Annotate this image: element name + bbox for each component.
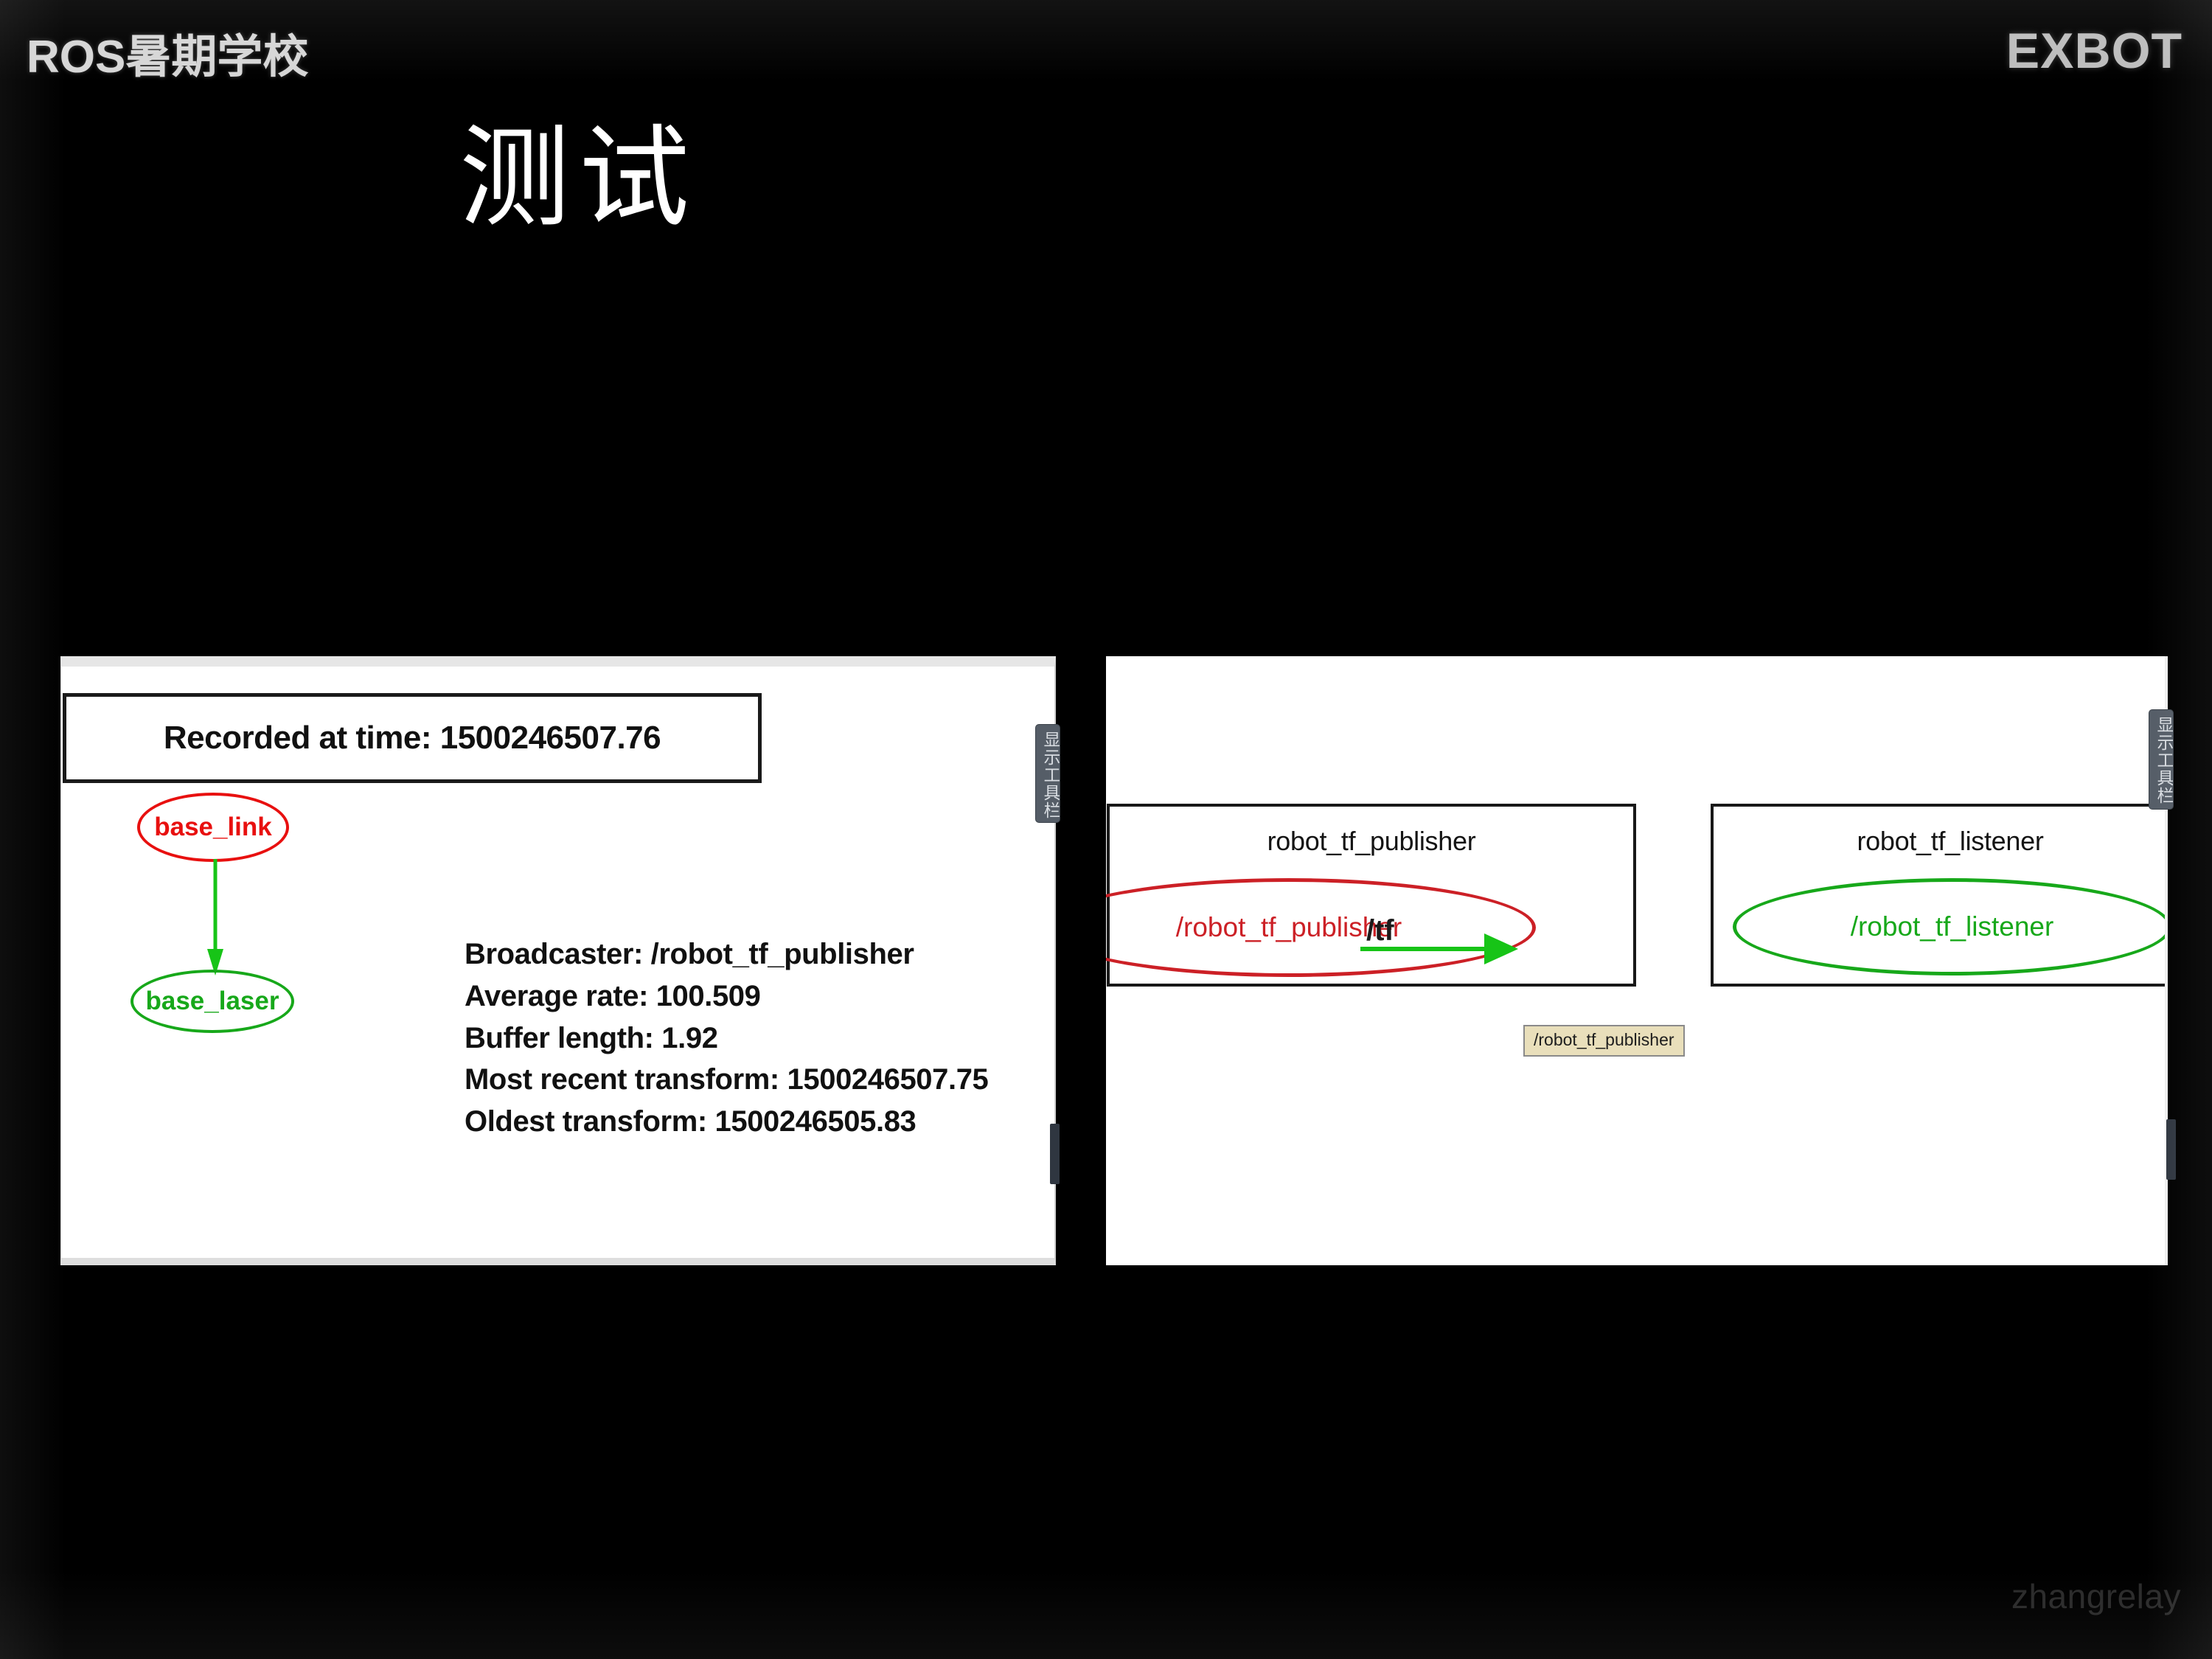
tf-stat-most-recent-transform: Most recent transform: 1500246507.75 [465, 1059, 988, 1101]
graph-tooltip-robot-tf-publisher: /robot_tf_publisher [1523, 1025, 1685, 1057]
tf-node-base-link-label: base_link [154, 813, 272, 842]
presentation-slide: ROS暑期学校 EXBOT 测试 Recorded at time: 15002… [0, 0, 2212, 1659]
scrollbar-thumb-left-panel[interactable] [1050, 1124, 1060, 1184]
scrollbar-thumb-right-panel[interactable] [2166, 1119, 2176, 1180]
brand-title-left: ROS暑期学校 [27, 19, 308, 86]
tf-edge-arrow [206, 859, 224, 977]
graph-node-listener-label: /robot_tf_listener [1851, 911, 2054, 942]
show-toolbar-tab-left[interactable]: 显示工具栏 [1035, 724, 1060, 823]
tf-statistics-block: Broadcaster: /robot_tf_publisher Average… [465, 933, 988, 1143]
recorded-at-time-box: Recorded at time: 1500246507.76 [63, 693, 762, 783]
tf-stat-oldest-transform: Oldest transform: 1500246505.83 [465, 1101, 988, 1143]
show-toolbar-tab-right[interactable]: 显示工具栏 [2149, 709, 2174, 810]
graph-edge-tf-label: /tf [1366, 914, 1394, 947]
slide-header: ROS暑期学校 EXBOT [0, 0, 2212, 111]
page-title: 测试 [0, 114, 1158, 245]
brand-logo-exbot: EXBOT [2006, 22, 2183, 80]
rqt-graph-window: robot_tf_publisher /robot_tf_publisher r… [1106, 656, 2168, 1265]
tf-node-base-laser-label: base_laser [146, 987, 279, 1016]
graph-node-robot-tf-listener[interactable]: /robot_tf_listener [1733, 878, 2168, 975]
tf-node-base-laser[interactable]: base_laser [131, 970, 294, 1033]
graph-group-robot-tf-listener: robot_tf_listener /robot_tf_listener [1711, 804, 2168, 987]
graph-group-publisher-title: robot_tf_publisher [1110, 826, 1633, 857]
tf-node-base-link[interactable]: base_link [137, 793, 289, 862]
tf-stat-average-rate: Average rate: 100.509 [465, 975, 988, 1018]
recorded-at-time-label: Recorded at time: 1500246507.76 [164, 720, 661, 757]
graph-group-listener-title: robot_tf_listener [1714, 826, 2168, 857]
tf-stat-broadcaster: Broadcaster: /robot_tf_publisher [465, 933, 988, 975]
author-watermark: zhangrelay [2011, 1576, 2181, 1616]
tf-stat-buffer-length: Buffer length: 1.92 [465, 1018, 988, 1060]
